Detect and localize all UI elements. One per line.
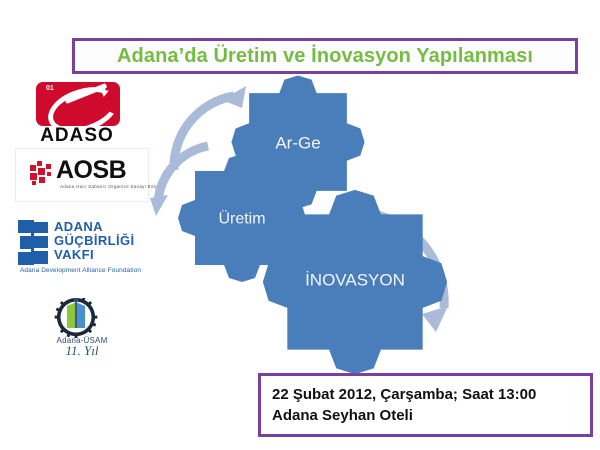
agv-subtitle: Adana Development Alliance Foundation	[20, 267, 150, 274]
logo-adana-usam: Adana-ÜSAM 11. Yıl	[26, 298, 138, 356]
usam-gear-icon	[48, 298, 104, 338]
logo-adaso: 01 ADASO	[18, 82, 136, 146]
logo-aosb: AOSB Adana Hacı Sabancı Organize Sanayi …	[16, 149, 148, 201]
page-title: Adana’da Üretim ve İnovasyon Yapılanması	[117, 46, 533, 66]
adaso-emblem: 01	[36, 82, 120, 126]
slide-title-box: Adana’da Üretim ve İnovasyon Yapılanması	[72, 38, 578, 74]
event-datetime: 22 Şubat 2012, Çarşamba; Saat 13:00	[272, 384, 590, 405]
agv-line-1: ADANA	[54, 220, 148, 234]
gear-process-diagram: Ar-Ge Üretim İNOVASYON	[150, 70, 470, 390]
gear-label-ar-ge: Ar-Ge	[275, 134, 320, 153]
gear-label-uretim: Üretim	[218, 210, 265, 228]
agv-emblem-icon	[18, 220, 54, 266]
usam-anniversary-script: 11. Yıl	[26, 343, 138, 359]
agv-wordmark: ADANA GÜÇBİRLİĞİ VAKFI	[54, 220, 148, 262]
presentation-slide: Adana’da Üretim ve İnovasyon Yapılanması…	[0, 0, 600, 450]
event-details-box: 22 Şubat 2012, Çarşamba; Saat 13:00 Adan…	[258, 373, 593, 437]
agv-line-2: GÜÇBİRLİĞİ	[54, 234, 148, 248]
logo-adana-gucbirligi-vakfi: ADANA GÜÇBİRLİĞİ VAKFI Adana Development…	[18, 218, 150, 282]
aosb-squares-icon	[30, 161, 56, 185]
event-venue: Adana Seyhan Oteli	[272, 405, 590, 426]
adaso-wordmark: ADASO	[18, 126, 136, 146]
adaso-badge-label: 01	[46, 85, 54, 92]
aosb-subtitle: Adana Hacı Sabancı Organize Sanayi Bölge…	[60, 184, 164, 189]
gear-label-inovasyon: İNOVASYON	[305, 271, 405, 290]
aosb-wordmark: AOSB	[56, 157, 126, 183]
agv-line-3: VAKFI	[54, 248, 148, 262]
